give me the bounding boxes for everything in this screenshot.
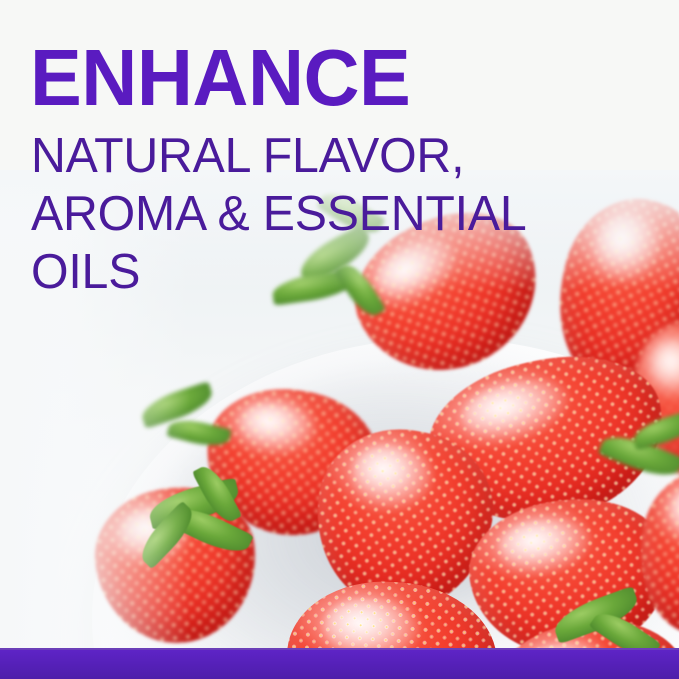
subtitle-line-1: NATURAL FLAVOR, [31,127,527,185]
page-title: ENHANCE [30,36,410,120]
product-feature-banner: ENHANCE NATURAL FLAVOR, AROMA & ESSENTIA… [0,0,679,679]
subtitle-line-3: OILS [31,243,527,301]
subtitle-line-2: AROMA & ESSENTIAL [31,185,527,243]
subtitle: NATURAL FLAVOR, AROMA & ESSENTIAL OILS [31,127,527,301]
bottom-accent-bar [0,648,679,679]
